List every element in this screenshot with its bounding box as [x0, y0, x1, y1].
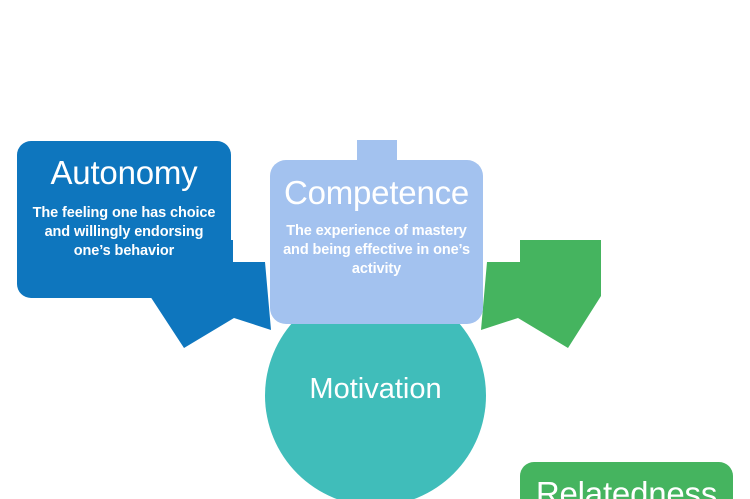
node-relatedness[interactable]: Relatedness The need to feel connected a…	[520, 462, 733, 499]
motivation-label: Motivation	[309, 375, 441, 404]
node-competence-description: The experience of mastery and being effe…	[270, 211, 483, 280]
node-autonomy-title: Autonomy	[17, 156, 231, 191]
node-competence-title: Competence	[270, 176, 483, 211]
arrow-relatedness-to-motivation	[481, 240, 601, 348]
node-competence[interactable]: Competence The experience of mastery and…	[270, 160, 483, 324]
node-relatedness-title: Relatedness	[520, 477, 733, 499]
diagram-canvas: Motivation Autonomy The feeling one has …	[0, 0, 750, 499]
node-autonomy-description: The feeling one has choice and willingly…	[17, 191, 231, 262]
node-autonomy[interactable]: Autonomy The feeling one has choice and …	[17, 141, 231, 298]
